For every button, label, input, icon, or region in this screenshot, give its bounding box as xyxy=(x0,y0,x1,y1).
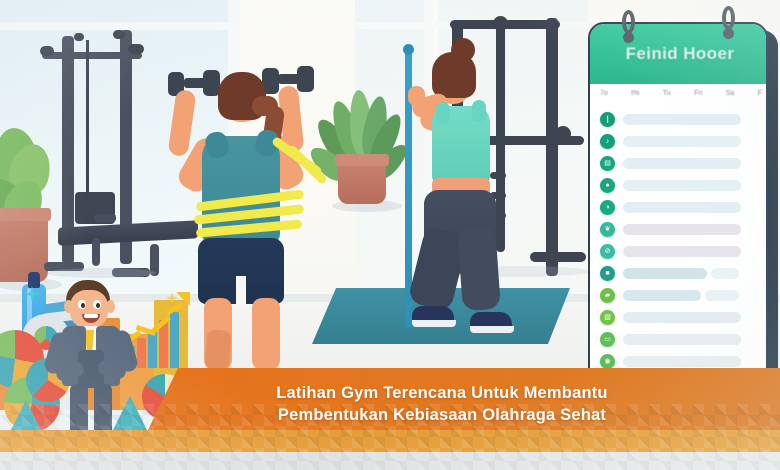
planner-row-badge-icon[interactable]: ◉ xyxy=(600,354,615,369)
planner-row-badge-icon[interactable]: ▰ xyxy=(600,288,615,303)
mini-bar xyxy=(137,338,146,368)
planner-row[interactable]: ▤ xyxy=(590,152,768,174)
planner-row-bar xyxy=(623,202,741,213)
planner-row[interactable]: ▰ xyxy=(590,284,768,306)
planner-row-bar xyxy=(623,312,741,323)
caption-line-1: Latihan Gym Terencana Untuk Membantu xyxy=(178,382,706,404)
illustration-canvas: Feinid Hooer 7o t% Tu Fri Sa F ❙♪▤●◑❦⊘■▰… xyxy=(0,0,780,470)
binder-ring-base xyxy=(723,28,734,39)
planner-row-bar xyxy=(623,180,741,191)
dow-label: F xyxy=(758,90,762,97)
planner-title: Feinid Hooer xyxy=(590,44,768,64)
planner-row-bar-secondary xyxy=(711,268,739,279)
planner-row-list[interactable]: ❙♪▤●◑❦⊘■▰▧▭◉ xyxy=(590,108,768,372)
planner-row-badge-icon[interactable]: ❦ xyxy=(600,222,615,237)
planner-row-bar xyxy=(623,158,741,169)
planner-row-bar xyxy=(623,224,741,235)
dow-label: 7o xyxy=(600,90,608,97)
dow-label: Sa xyxy=(726,90,735,97)
planner-row-bar xyxy=(623,246,741,257)
planner-row[interactable]: ❙ xyxy=(590,108,768,130)
planner-row[interactable]: ◑ xyxy=(590,196,768,218)
planner-row-badge-icon[interactable]: ❙ xyxy=(600,112,615,127)
planner-row-badge-icon[interactable]: ▭ xyxy=(600,332,615,347)
plant-pot-rim xyxy=(335,154,389,166)
planner-row[interactable]: ❦ xyxy=(590,218,768,240)
mini-bar xyxy=(148,330,157,368)
caption-banner-text: Latihan Gym Terencana Untuk Membantu Pem… xyxy=(178,382,706,426)
planner-row[interactable]: ■ xyxy=(590,262,768,284)
planner-row[interactable]: ▧ xyxy=(590,306,768,328)
planner-row-badge-icon[interactable]: ▤ xyxy=(600,156,615,171)
mini-bar xyxy=(170,312,179,368)
planner-row-bar xyxy=(623,290,701,301)
window-mullion-h1 xyxy=(0,22,240,30)
planner-row-bar xyxy=(623,356,741,367)
planner-row-bar xyxy=(623,268,707,279)
planner-row[interactable]: ⊘ xyxy=(590,240,768,262)
planner-row-bar xyxy=(623,334,741,345)
planner-row-badge-icon[interactable]: ● xyxy=(600,178,615,193)
plant-pot-rim xyxy=(0,208,51,221)
planner-row-badge-icon[interactable]: ⊘ xyxy=(600,244,615,259)
planner-card-body: Feinid Hooer 7o t% Tu Fri Sa F ❙♪▤●◑❦⊘■▰… xyxy=(588,22,768,384)
caption-banner-lower-band xyxy=(0,430,780,452)
planner-row-badge-icon[interactable]: ♪ xyxy=(600,134,615,149)
planner-row-badge-icon[interactable]: ■ xyxy=(600,266,615,281)
dow-label: Fri xyxy=(694,90,702,97)
bottom-strip xyxy=(0,452,780,470)
planner-row-bar-secondary xyxy=(705,290,739,301)
plant-pot xyxy=(0,212,48,282)
binder-ring-base xyxy=(623,32,634,43)
workout-planner-card[interactable]: Feinid Hooer 7o t% Tu Fri Sa F ❙♪▤●◑❦⊘■▰… xyxy=(588,22,778,394)
binder-ring xyxy=(622,10,635,34)
planner-row[interactable]: ♪ xyxy=(590,130,768,152)
dow-label: Tu xyxy=(663,90,671,97)
planner-row[interactable]: ● xyxy=(590,174,768,196)
planner-row-badge-icon[interactable]: ▧ xyxy=(600,310,615,325)
planner-row-badge-icon[interactable]: ◑ xyxy=(600,200,615,215)
dow-label: t% xyxy=(631,90,639,97)
binder-ring xyxy=(722,6,735,30)
caption-line-2: Pembentukan Kebiasaan Olahraga Sehat xyxy=(178,404,706,426)
planner-row-bar xyxy=(623,136,741,147)
planner-row-bar xyxy=(623,114,741,125)
planner-row[interactable]: ▭ xyxy=(590,328,768,350)
day-of-week-row: 7o t% Tu Fri Sa F xyxy=(600,90,762,97)
